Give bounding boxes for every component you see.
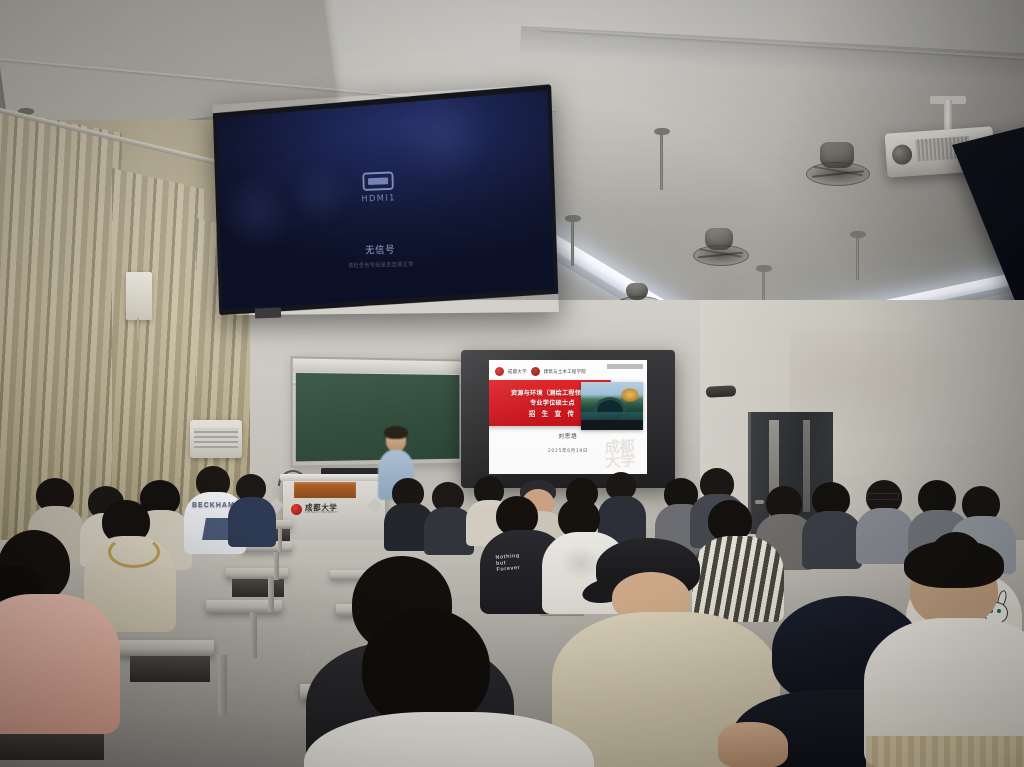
tshirt-graphic-text: Nothing but Forever <box>495 553 521 573</box>
slide-logo-left-text: 成都大学 <box>508 369 527 375</box>
tv-screen: HDMI1 无信号 请检查信号线是否连接正常 <box>216 90 555 309</box>
university-seal-icon <box>291 504 302 515</box>
slide-title-line-2: 专业学位硕士点 <box>530 398 575 407</box>
podium-institution-name: 成都大学 CHENGDU UNIVERSITY <box>305 504 338 514</box>
ceiling-rod <box>571 218 574 266</box>
no-signal-group: 无信号 请检查信号线是否连接正常 <box>347 241 413 269</box>
ceiling-rod-cap <box>756 265 772 272</box>
desk-shadow <box>130 656 210 682</box>
wall-light-box <box>126 272 152 320</box>
air-conditioner-unit <box>190 420 242 458</box>
no-signal-text: 无信号 <box>347 241 413 257</box>
ceiling-rod <box>856 234 859 280</box>
podium-institution-badge: 成都大学 CHENGDU UNIVERSITY <box>291 502 361 517</box>
slide-logo-row: 成都大学 建筑与土木工程学院 <box>495 365 615 378</box>
hdmi-port-icon <box>362 171 394 190</box>
ceiling-rod <box>660 132 663 190</box>
eyeglasses-icon <box>867 493 899 500</box>
presentation-slide: 成都大学 建筑与土木工程学院 资源与环境（测绘工程领域） 专业学位硕士点 招 生… <box>489 360 647 474</box>
slide-title-line-3: 招 生 宣 传 <box>529 408 576 418</box>
slide-scenic-photo <box>581 382 643 430</box>
photo-foreground <box>581 420 643 430</box>
hdmi-input-label: HDMI1 <box>361 193 396 204</box>
wall-speaker-icon <box>706 385 737 398</box>
photo-sun-glow <box>621 388 639 402</box>
lectern-podium: 成都大学 CHENGDU UNIVERSITY <box>283 478 385 544</box>
tv-wall-bracket <box>255 308 281 319</box>
podium-top-surface <box>280 474 388 481</box>
podium-wood-panel <box>294 482 356 498</box>
student-desk <box>118 640 214 656</box>
slide-date: 2025年6月19日 <box>489 448 647 454</box>
slide-corner-tag <box>607 364 643 369</box>
desk-leg <box>268 578 274 612</box>
jersey-name-text: BECKHAM <box>192 502 235 509</box>
presentation-display[interactable]: 成都大学 建筑与土木工程学院 资源与环境（测绘工程领域） 专业学位硕士点 招 生… <box>461 350 675 488</box>
slide-presenter-name: 刘思語 <box>489 432 647 440</box>
desk-leg <box>278 528 282 552</box>
college-seal-icon <box>531 367 540 376</box>
hand <box>718 722 788 767</box>
podium-diamond-accent <box>367 498 383 514</box>
no-signal-hint: 请检查信号线是否连接正常 <box>348 260 414 269</box>
hdmi-status-group: HDMI1 <box>361 171 396 204</box>
desk-shadow <box>232 579 284 597</box>
classroom-photo: HDMI1 无信号 请检查信号线是否连接正常 成都大学 建筑与土木工程学院 资源… <box>0 0 1024 767</box>
slide-logo-right-text: 建筑与土木工程学院 <box>544 369 586 375</box>
ceiling-rod-cap <box>850 231 866 238</box>
chalkboard-top-strip <box>293 358 463 374</box>
necklace-chain <box>108 536 160 568</box>
podium-institution-en: CHENGDU UNIVERSITY <box>305 512 338 515</box>
wall-mounted-tv[interactable]: HDMI1 无信号 请检查信号线是否连接正常 <box>213 84 559 315</box>
desk-leg <box>274 552 279 580</box>
ceiling-rod-cap <box>654 128 670 135</box>
desk-leg <box>250 612 257 658</box>
desk-leg <box>218 655 227 715</box>
university-seal-icon <box>495 367 504 376</box>
door-light-gap <box>803 420 810 512</box>
ceiling-rod-cap <box>565 215 581 222</box>
projector-lens-icon <box>891 144 912 165</box>
door-handle-icon[interactable] <box>755 500 764 504</box>
